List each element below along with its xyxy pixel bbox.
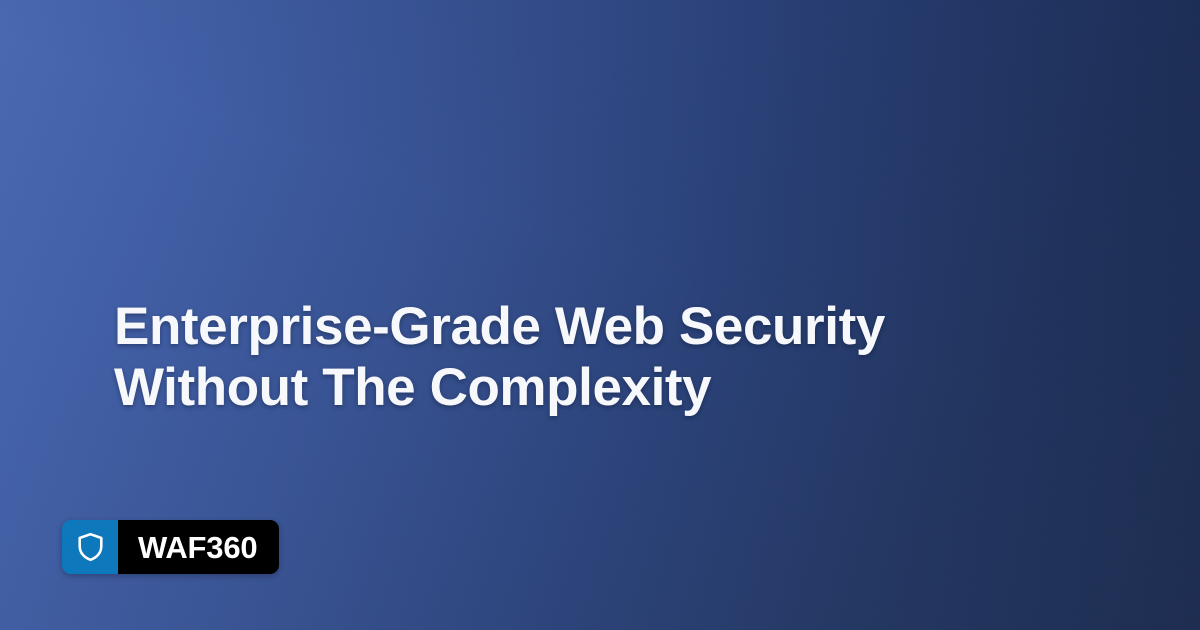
headline-line-2: Without The Complexity: [114, 357, 994, 418]
brand-name: WAF360: [138, 532, 257, 563]
brand-logo-badge[interactable]: WAF360: [62, 520, 279, 574]
brand-icon-container: [62, 520, 118, 574]
brand-name-container: WAF360: [118, 520, 279, 574]
social-share-card: Enterprise-Grade Web Security Without Th…: [0, 0, 1200, 630]
headline-line-1: Enterprise-Grade Web Security: [114, 296, 994, 357]
page-title: Enterprise-Grade Web Security Without Th…: [114, 296, 994, 418]
card-content: Enterprise-Grade Web Security Without Th…: [0, 0, 1200, 630]
shield-icon: [77, 532, 104, 562]
